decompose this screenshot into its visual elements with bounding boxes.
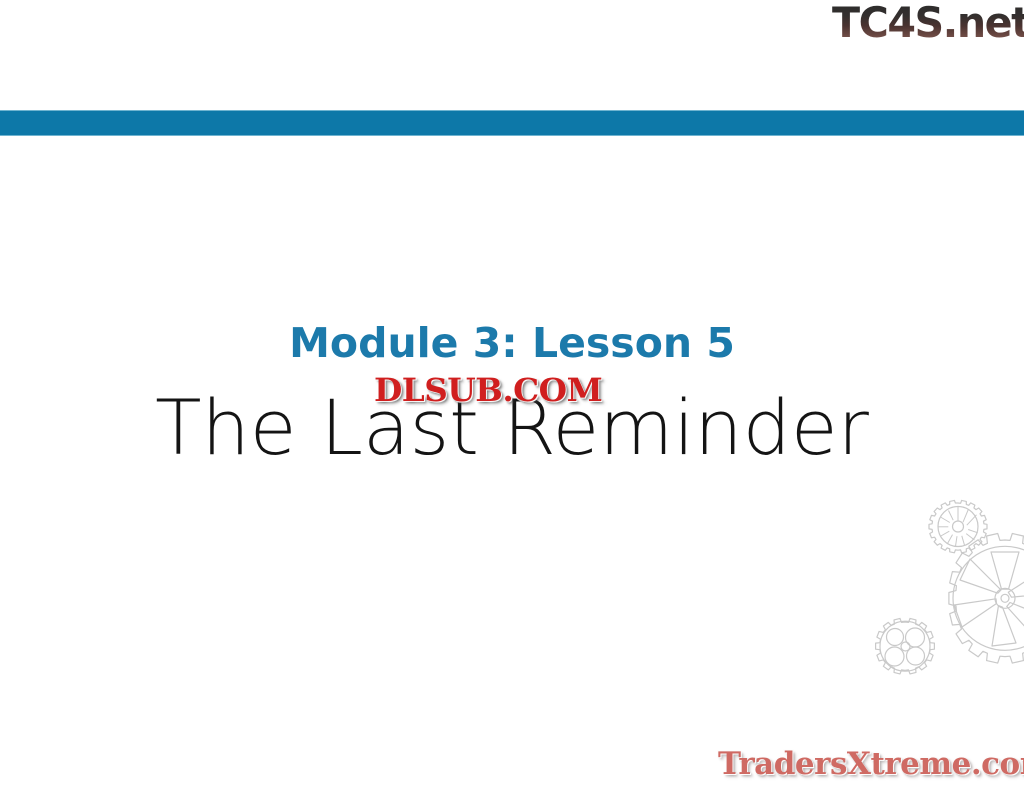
tradersxtreme-logo: TradersXtreme.com	[718, 746, 1024, 782]
tc4s-net-logo: TC4S.net	[832, 0, 1024, 46]
page-title: Module 3: Lesson 5	[0, 318, 1024, 368]
gear-small-top-icon	[929, 500, 987, 552]
gear-large-right-icon	[949, 534, 1024, 664]
blue-divider-band	[0, 110, 1024, 136]
slide-canvas: TC4S.net Module 3: Lesson 5 The Last Rem…	[0, 0, 1024, 791]
title-block: Module 3: Lesson 5	[0, 318, 1024, 368]
dlsub-watermark: DLSUB.COM	[374, 373, 602, 407]
gear-medium-left-icon	[876, 618, 935, 674]
gears-decoration	[840, 480, 1024, 710]
